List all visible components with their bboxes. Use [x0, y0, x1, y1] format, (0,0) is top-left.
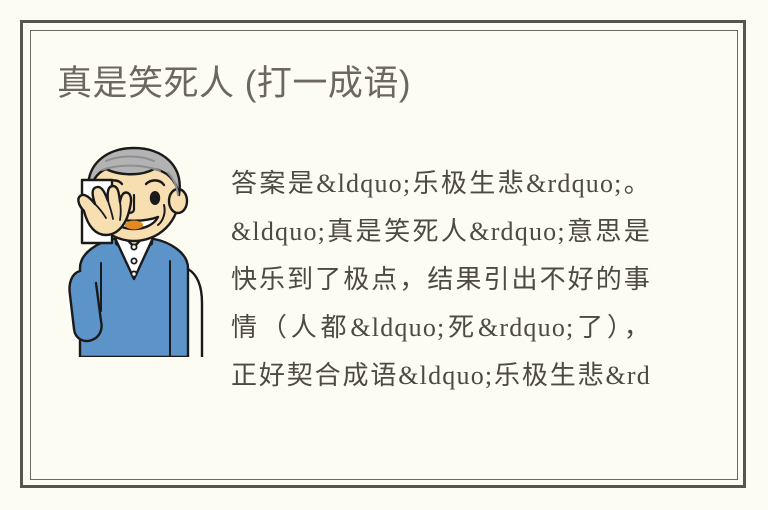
- answer-text: 答案是&ldquo;乐极生悲&rdquo;。&ldquo;真是笑死人&rdquo…: [231, 160, 651, 400]
- elderly-man-illustration-svg: [58, 143, 210, 357]
- tongue: [125, 221, 143, 230]
- elderly-man-illustration: [58, 143, 210, 357]
- collar-button-1: [131, 244, 136, 249]
- sweater-right-sleeve-seam: [188, 269, 202, 357]
- page-root: 真是笑死人 (打一成语): [0, 0, 768, 510]
- finger-line-3: [120, 202, 121, 220]
- page-title: 真是笑死人 (打一成语): [57, 62, 697, 106]
- collar-button-3: [131, 271, 136, 276]
- collar-button-2: [131, 258, 136, 263]
- right-eye: [150, 191, 160, 205]
